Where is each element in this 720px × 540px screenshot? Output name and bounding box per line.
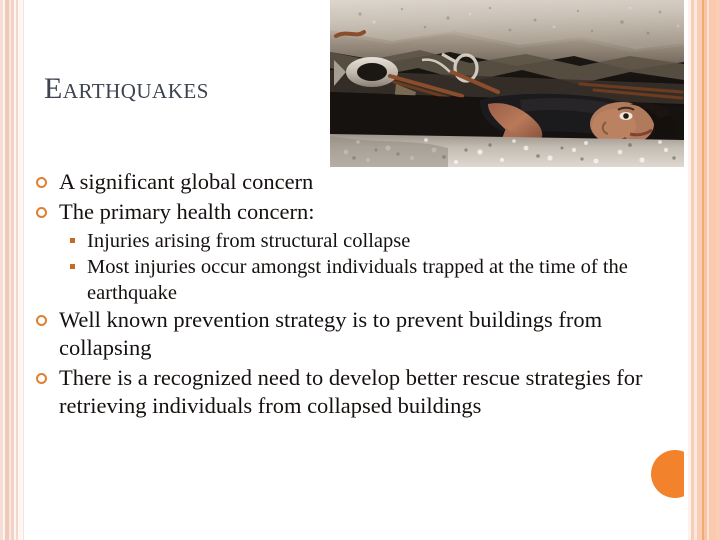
left-border-stripes	[0, 0, 30, 540]
list-item-label: There is a recognized need to develop be…	[59, 364, 670, 420]
list-item: A significant global concern	[30, 168, 670, 196]
list-item: Well known prevention strategy is to pre…	[30, 306, 670, 362]
list-item: The primary health concern:	[30, 198, 670, 226]
list-item-label: The primary health concern:	[59, 198, 670, 226]
list-item-sub: Injuries arising from structural collaps…	[30, 228, 670, 254]
bullet-list: A significant global concern The primary…	[30, 168, 670, 422]
list-item-label: Well known prevention strategy is to pre…	[59, 306, 670, 362]
page-title: Earthquakes	[44, 72, 209, 106]
bullet-ring-icon	[36, 177, 47, 188]
list-item-sub: Most injuries occur amongst individuals …	[30, 254, 670, 306]
right-border-stripes	[684, 0, 720, 540]
list-item-label: Injuries arising from structural collaps…	[87, 228, 670, 254]
bullet-square-icon	[70, 264, 75, 269]
bullet-ring-icon	[36, 373, 47, 384]
bullet-square-icon	[70, 238, 75, 243]
bullet-ring-icon	[36, 315, 47, 326]
list-item-label: Most injuries occur amongst individuals …	[87, 254, 670, 306]
stripe	[709, 0, 716, 540]
stripe	[23, 0, 24, 540]
stripe	[716, 0, 720, 540]
list-item-label: A significant global concern	[59, 168, 670, 196]
bullet-ring-icon	[36, 207, 47, 218]
slide: Earthquakes	[0, 0, 720, 540]
earthquake-rubble-photo	[330, 0, 684, 167]
list-item: There is a recognized need to develop be…	[30, 364, 670, 420]
